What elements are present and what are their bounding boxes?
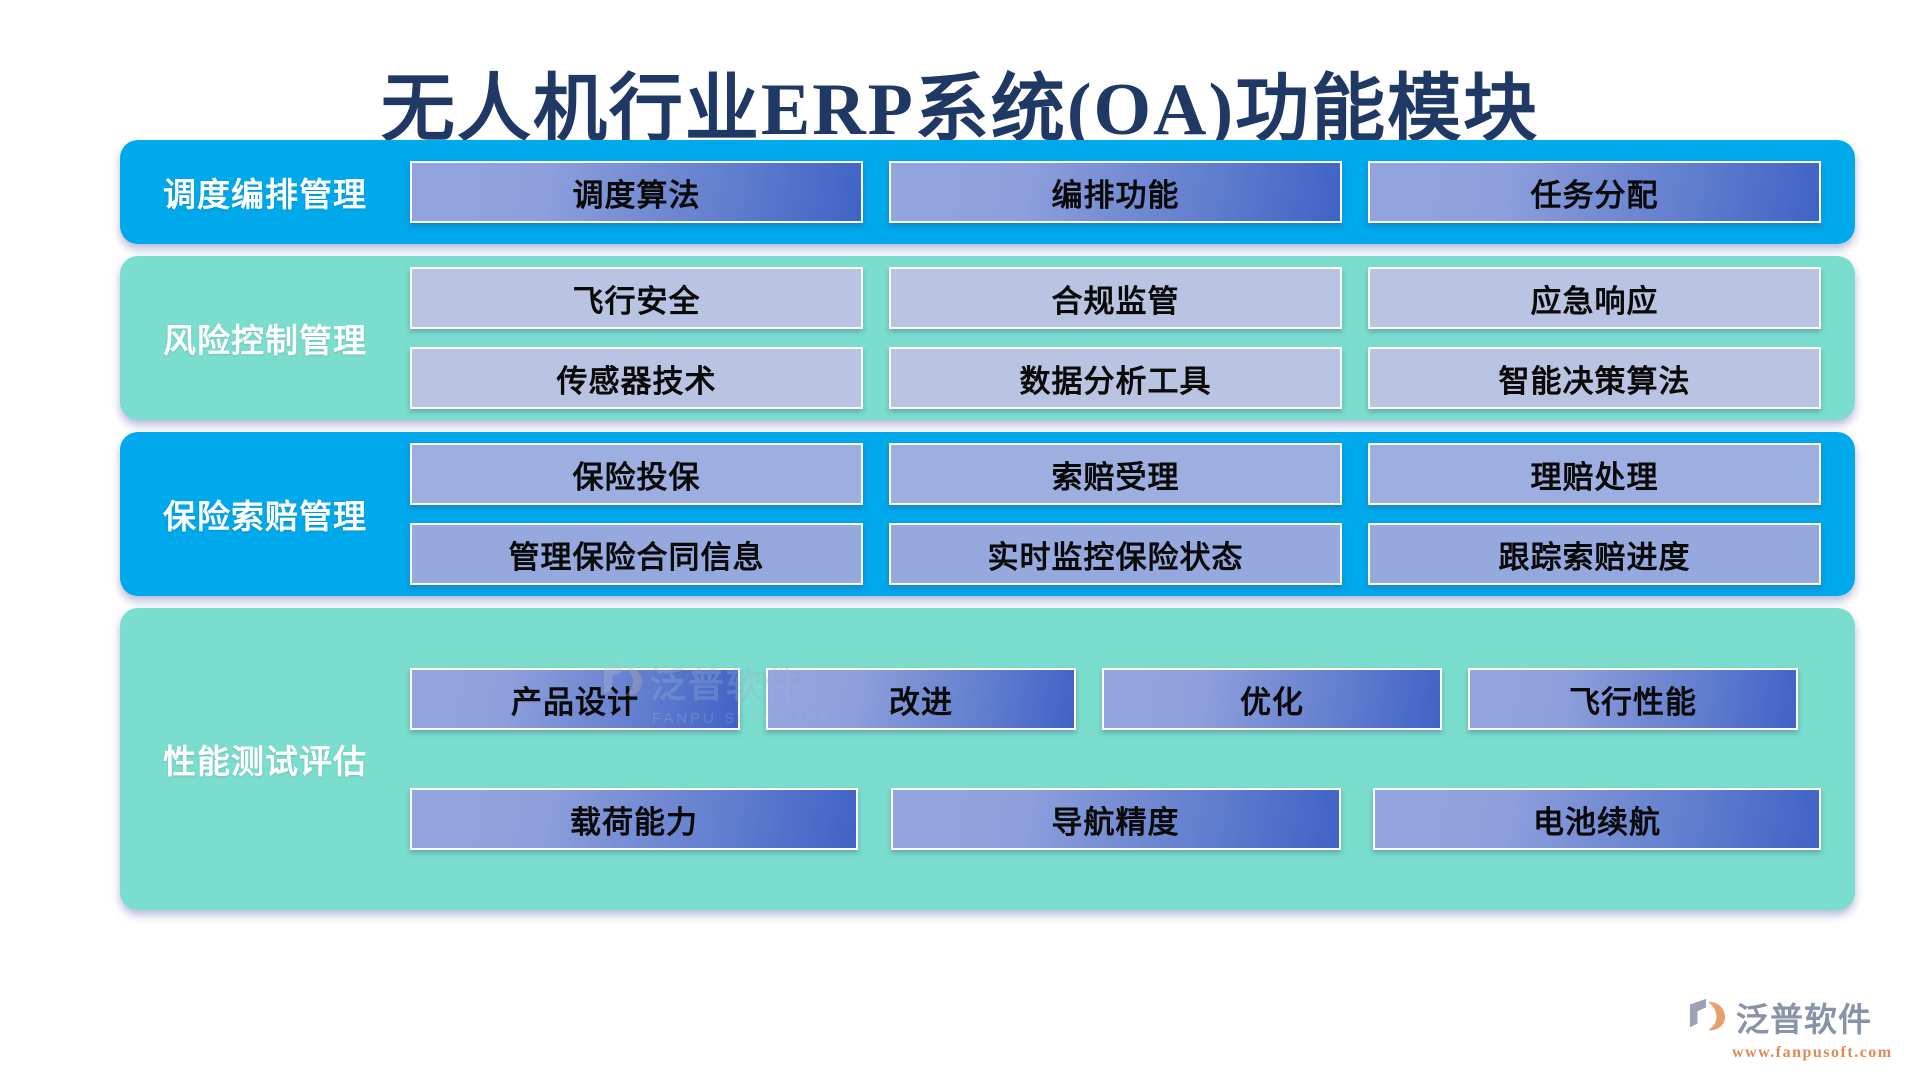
box-row: 载荷能力 导航精度 电池续航 <box>410 788 1821 850</box>
brand-name: 泛普软件 <box>1736 993 1872 1041</box>
section-label-risk: 风险控制管理 <box>120 314 410 362</box>
module-box[interactable]: 飞行安全 <box>410 267 863 329</box>
module-box[interactable]: 调度算法 <box>410 161 863 223</box>
module-box[interactable]: 智能决策算法 <box>1368 347 1821 409</box>
module-box[interactable]: 电池续航 <box>1373 788 1821 850</box>
module-box[interactable]: 任务分配 <box>1368 161 1821 223</box>
section-label-schedule: 调度编排管理 <box>120 168 410 216</box>
module-box[interactable]: 实时监控保险状态 <box>889 523 1342 585</box>
module-box[interactable]: 数据分析工具 <box>889 347 1342 409</box>
section-performance-rows: 产品设计 改进 优化 飞行性能 载荷能力 导航精度 电池续航 <box>410 668 1855 850</box>
module-box[interactable]: 理赔处理 <box>1368 443 1821 505</box>
brand-logo: 泛普软件 www.fanpusoft.com <box>1686 993 1886 1062</box>
module-box[interactable]: 索赔受理 <box>889 443 1342 505</box>
module-box[interactable]: 导航精度 <box>891 788 1341 850</box>
box-row: 产品设计 改进 优化 飞行性能 <box>410 668 1821 730</box>
section-label-insurance: 保险索赔管理 <box>120 490 410 538</box>
section-label-performance: 性能测试评估 <box>120 735 410 783</box>
module-box[interactable]: 编排功能 <box>889 161 1342 223</box>
module-box[interactable]: 合规监管 <box>889 267 1342 329</box>
box-row: 传感器技术 数据分析工具 智能决策算法 <box>410 347 1821 409</box>
box-row: 飞行安全 合规监管 应急响应 <box>410 267 1821 329</box>
module-box[interactable]: 飞行性能 <box>1468 668 1798 730</box>
box-row: 管理保险合同信息 实时监控保险状态 跟踪索赔进度 <box>410 523 1821 585</box>
module-box[interactable]: 保险投保 <box>410 443 863 505</box>
section-performance: 性能测试评估 产品设计 改进 优化 飞行性能 载荷能力 导航精度 电池续航 <box>120 608 1855 910</box>
module-box[interactable]: 管理保险合同信息 <box>410 523 863 585</box>
brand-url: www.fanpusoft.com <box>1732 1044 1893 1062</box>
module-box[interactable]: 跟踪索赔进度 <box>1368 523 1821 585</box>
module-box[interactable]: 应急响应 <box>1368 267 1821 329</box>
module-box[interactable]: 改进 <box>766 668 1076 730</box>
box-row: 调度算法 编排功能 任务分配 <box>410 161 1821 223</box>
function-module-diagram: 调度编排管理 调度算法 编排功能 任务分配 风险控制管理 飞行安全 合规监管 应… <box>120 140 1920 1030</box>
module-box[interactable]: 产品设计 <box>410 668 740 730</box>
module-box[interactable]: 优化 <box>1102 668 1442 730</box>
box-row: 保险投保 索赔受理 理赔处理 <box>410 443 1821 505</box>
section-risk: 风险控制管理 飞行安全 合规监管 应急响应 传感器技术 数据分析工具 智能决策算… <box>120 256 1855 420</box>
fanpu-logo-icon <box>1686 996 1728 1039</box>
section-schedule-rows: 调度算法 编排功能 任务分配 <box>410 161 1855 223</box>
module-box[interactable]: 载荷能力 <box>410 788 858 850</box>
section-schedule: 调度编排管理 调度算法 编排功能 任务分配 <box>120 140 1855 244</box>
section-insurance: 保险索赔管理 保险投保 索赔受理 理赔处理 管理保险合同信息 实时监控保险状态 … <box>120 432 1855 596</box>
brand-top: 泛普软件 <box>1686 993 1872 1041</box>
section-risk-rows: 飞行安全 合规监管 应急响应 传感器技术 数据分析工具 智能决策算法 <box>410 267 1855 409</box>
module-box[interactable]: 传感器技术 <box>410 347 863 409</box>
section-insurance-rows: 保险投保 索赔受理 理赔处理 管理保险合同信息 实时监控保险状态 跟踪索赔进度 <box>410 443 1855 585</box>
